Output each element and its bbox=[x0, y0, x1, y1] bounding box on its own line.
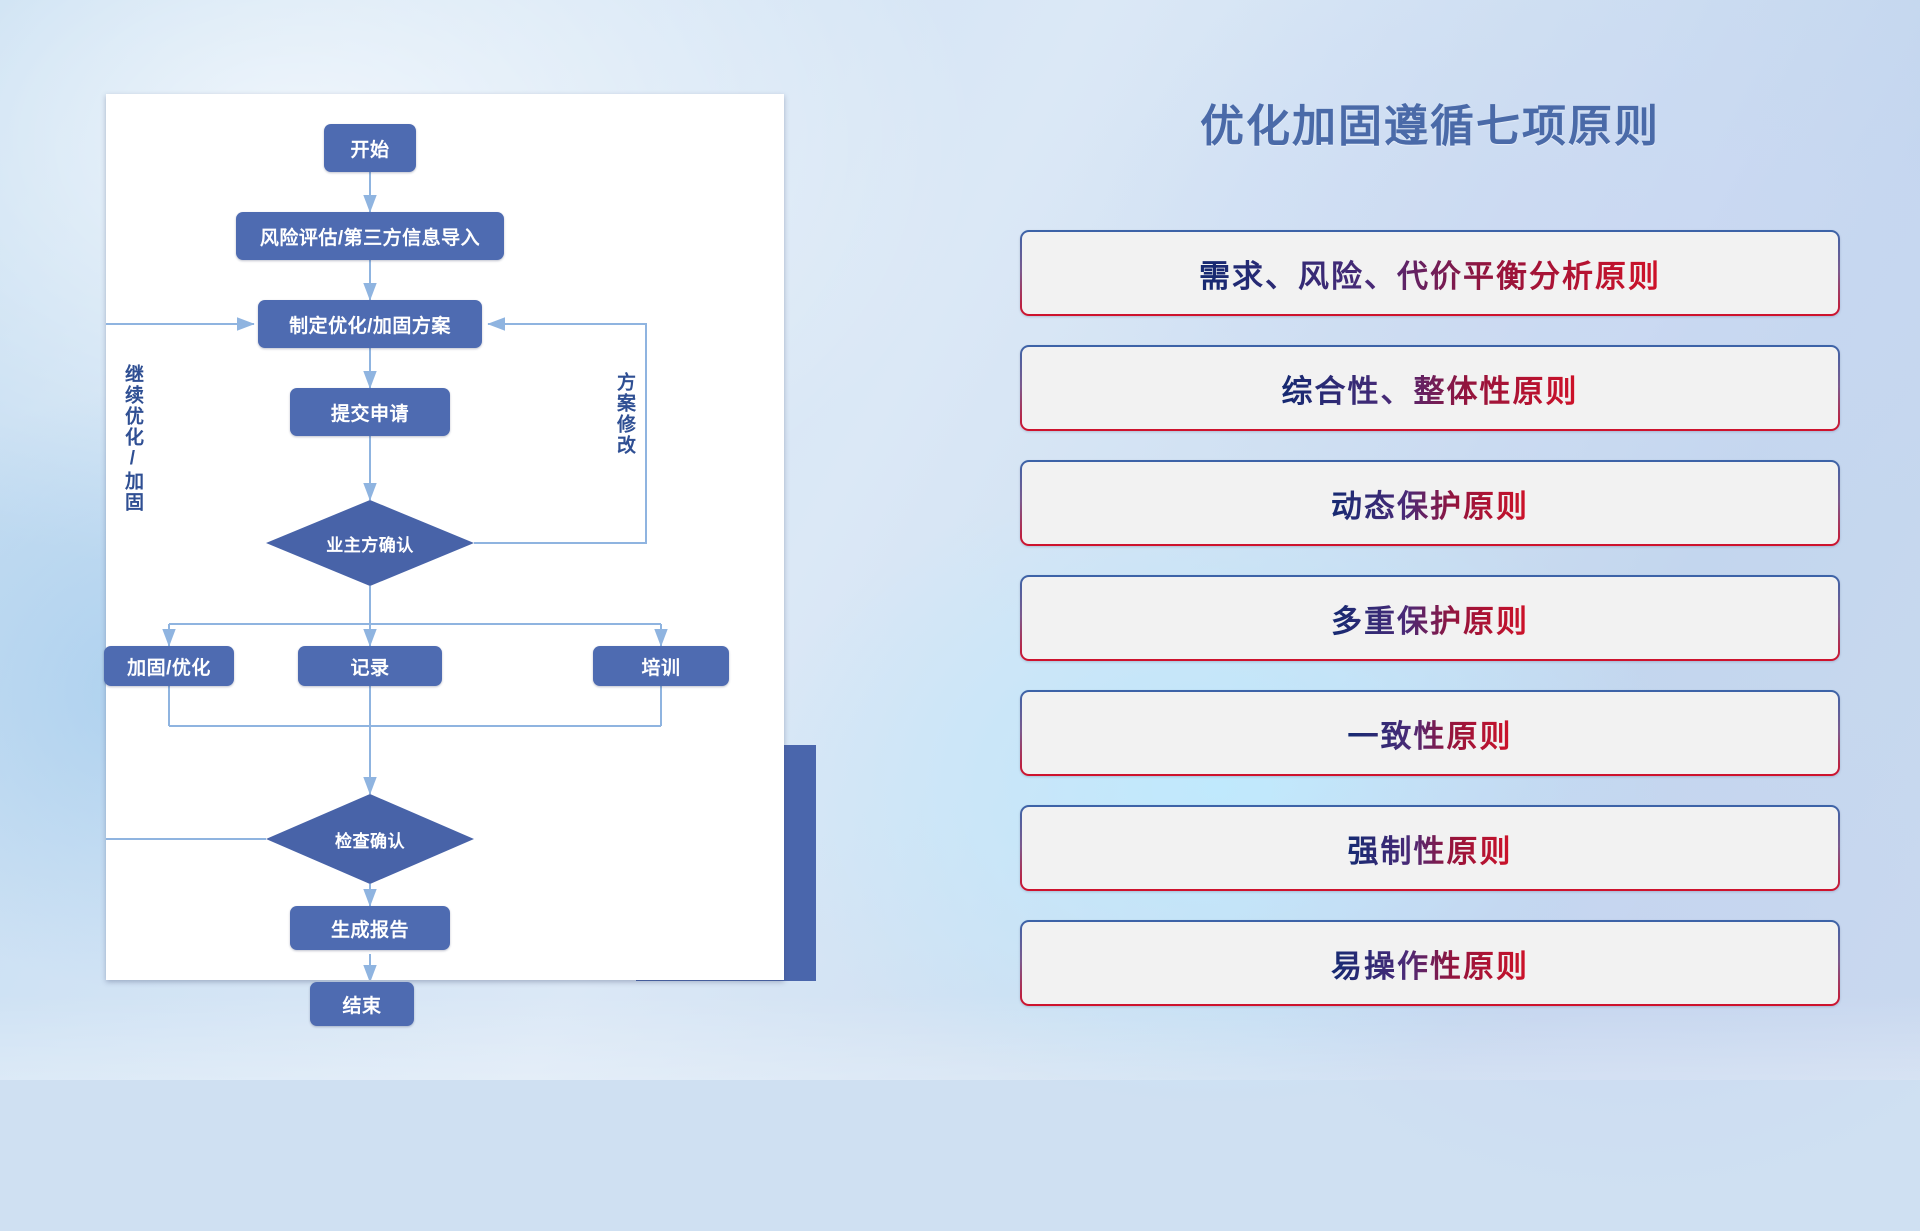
principles-list: 需求、风险、代价平衡分析原则 综合性、整体性原则 动态保护原则 多重保护原则 一… bbox=[1020, 230, 1840, 1035]
flow-node-label: 生成报告 bbox=[331, 915, 409, 942]
principle-label: 易操作性原则 bbox=[1331, 941, 1529, 986]
principle-item[interactable]: 动态保护原则 bbox=[1020, 460, 1840, 546]
principle-label: 多重保护原则 bbox=[1331, 596, 1529, 641]
flow-node-label: 业主方确认 bbox=[326, 531, 414, 556]
flow-node-label: 培训 bbox=[641, 653, 680, 680]
flow-node-risk-assessment[interactable]: 风险评估/第三方信息导入 bbox=[236, 212, 504, 260]
principle-item-body: 需求、风险、代价平衡分析原则 bbox=[1022, 232, 1838, 314]
flowchart-canvas: 开始 风险评估/第三方信息导入 制定优化/加固方案 提交申请 业主方确认 加固/… bbox=[106, 94, 784, 980]
principle-item[interactable]: 需求、风险、代价平衡分析原则 bbox=[1020, 230, 1840, 316]
flow-node-end[interactable]: 结束 bbox=[310, 982, 414, 1026]
panel-title: 优化加固遵循七项原则 bbox=[1020, 90, 1840, 154]
flow-node-label: 记录 bbox=[350, 653, 389, 680]
principle-label: 一致性原则 bbox=[1348, 711, 1513, 756]
flowchart-card: 开始 风险评估/第三方信息导入 制定优化/加固方案 提交申请 业主方确认 加固/… bbox=[106, 94, 784, 980]
principle-item-body: 一致性原则 bbox=[1022, 692, 1838, 774]
flow-node-label: 开始 bbox=[350, 135, 389, 162]
flow-node-record[interactable]: 记录 bbox=[298, 646, 442, 686]
principle-item[interactable]: 综合性、整体性原则 bbox=[1020, 345, 1840, 431]
principle-item-body: 动态保护原则 bbox=[1022, 462, 1838, 544]
principle-label: 强制性原则 bbox=[1348, 826, 1513, 871]
flow-edge-label-continue-optimize: 继续优化/加固 bbox=[122, 364, 142, 513]
flow-node-start[interactable]: 开始 bbox=[324, 124, 416, 172]
flow-node-training[interactable]: 培训 bbox=[593, 646, 729, 686]
flow-node-submit[interactable]: 提交申请 bbox=[290, 388, 450, 436]
flow-edge-label-plan-revision: 方案修改 bbox=[614, 372, 634, 456]
flow-node-label: 检查确认 bbox=[335, 827, 405, 852]
flow-node-label: 提交申请 bbox=[331, 399, 409, 426]
principle-item[interactable]: 一致性原则 bbox=[1020, 690, 1840, 776]
flow-node-label: 结束 bbox=[342, 991, 381, 1018]
flow-node-label: 风险评估/第三方信息导入 bbox=[260, 223, 480, 250]
flow-node-check-confirm[interactable]: 检查确认 bbox=[266, 794, 474, 884]
flow-node-label: 制定优化/加固方案 bbox=[289, 311, 451, 338]
flow-node-reinforce[interactable]: 加固/优化 bbox=[104, 646, 234, 686]
principle-label: 综合性、整体性原则 bbox=[1282, 366, 1579, 411]
principle-item-body: 易操作性原则 bbox=[1022, 922, 1838, 1004]
principle-item[interactable]: 强制性原则 bbox=[1020, 805, 1840, 891]
principle-label: 需求、风险、代价平衡分析原则 bbox=[1199, 251, 1661, 296]
flow-node-report[interactable]: 生成报告 bbox=[290, 906, 450, 950]
principle-label: 动态保护原则 bbox=[1331, 481, 1529, 526]
flow-node-plan[interactable]: 制定优化/加固方案 bbox=[258, 300, 482, 348]
flow-node-label: 加固/优化 bbox=[127, 653, 211, 680]
principle-item[interactable]: 多重保护原则 bbox=[1020, 575, 1840, 661]
principle-item[interactable]: 易操作性原则 bbox=[1020, 920, 1840, 1006]
principles-panel: 优化加固遵循七项原则 需求、风险、代价平衡分析原则 综合性、整体性原则 动态保护… bbox=[1020, 90, 1840, 1020]
principle-item-body: 综合性、整体性原则 bbox=[1022, 347, 1838, 429]
flow-node-owner-confirm[interactable]: 业主方确认 bbox=[266, 500, 474, 586]
principle-item-body: 强制性原则 bbox=[1022, 807, 1838, 889]
principle-item-body: 多重保护原则 bbox=[1022, 577, 1838, 659]
